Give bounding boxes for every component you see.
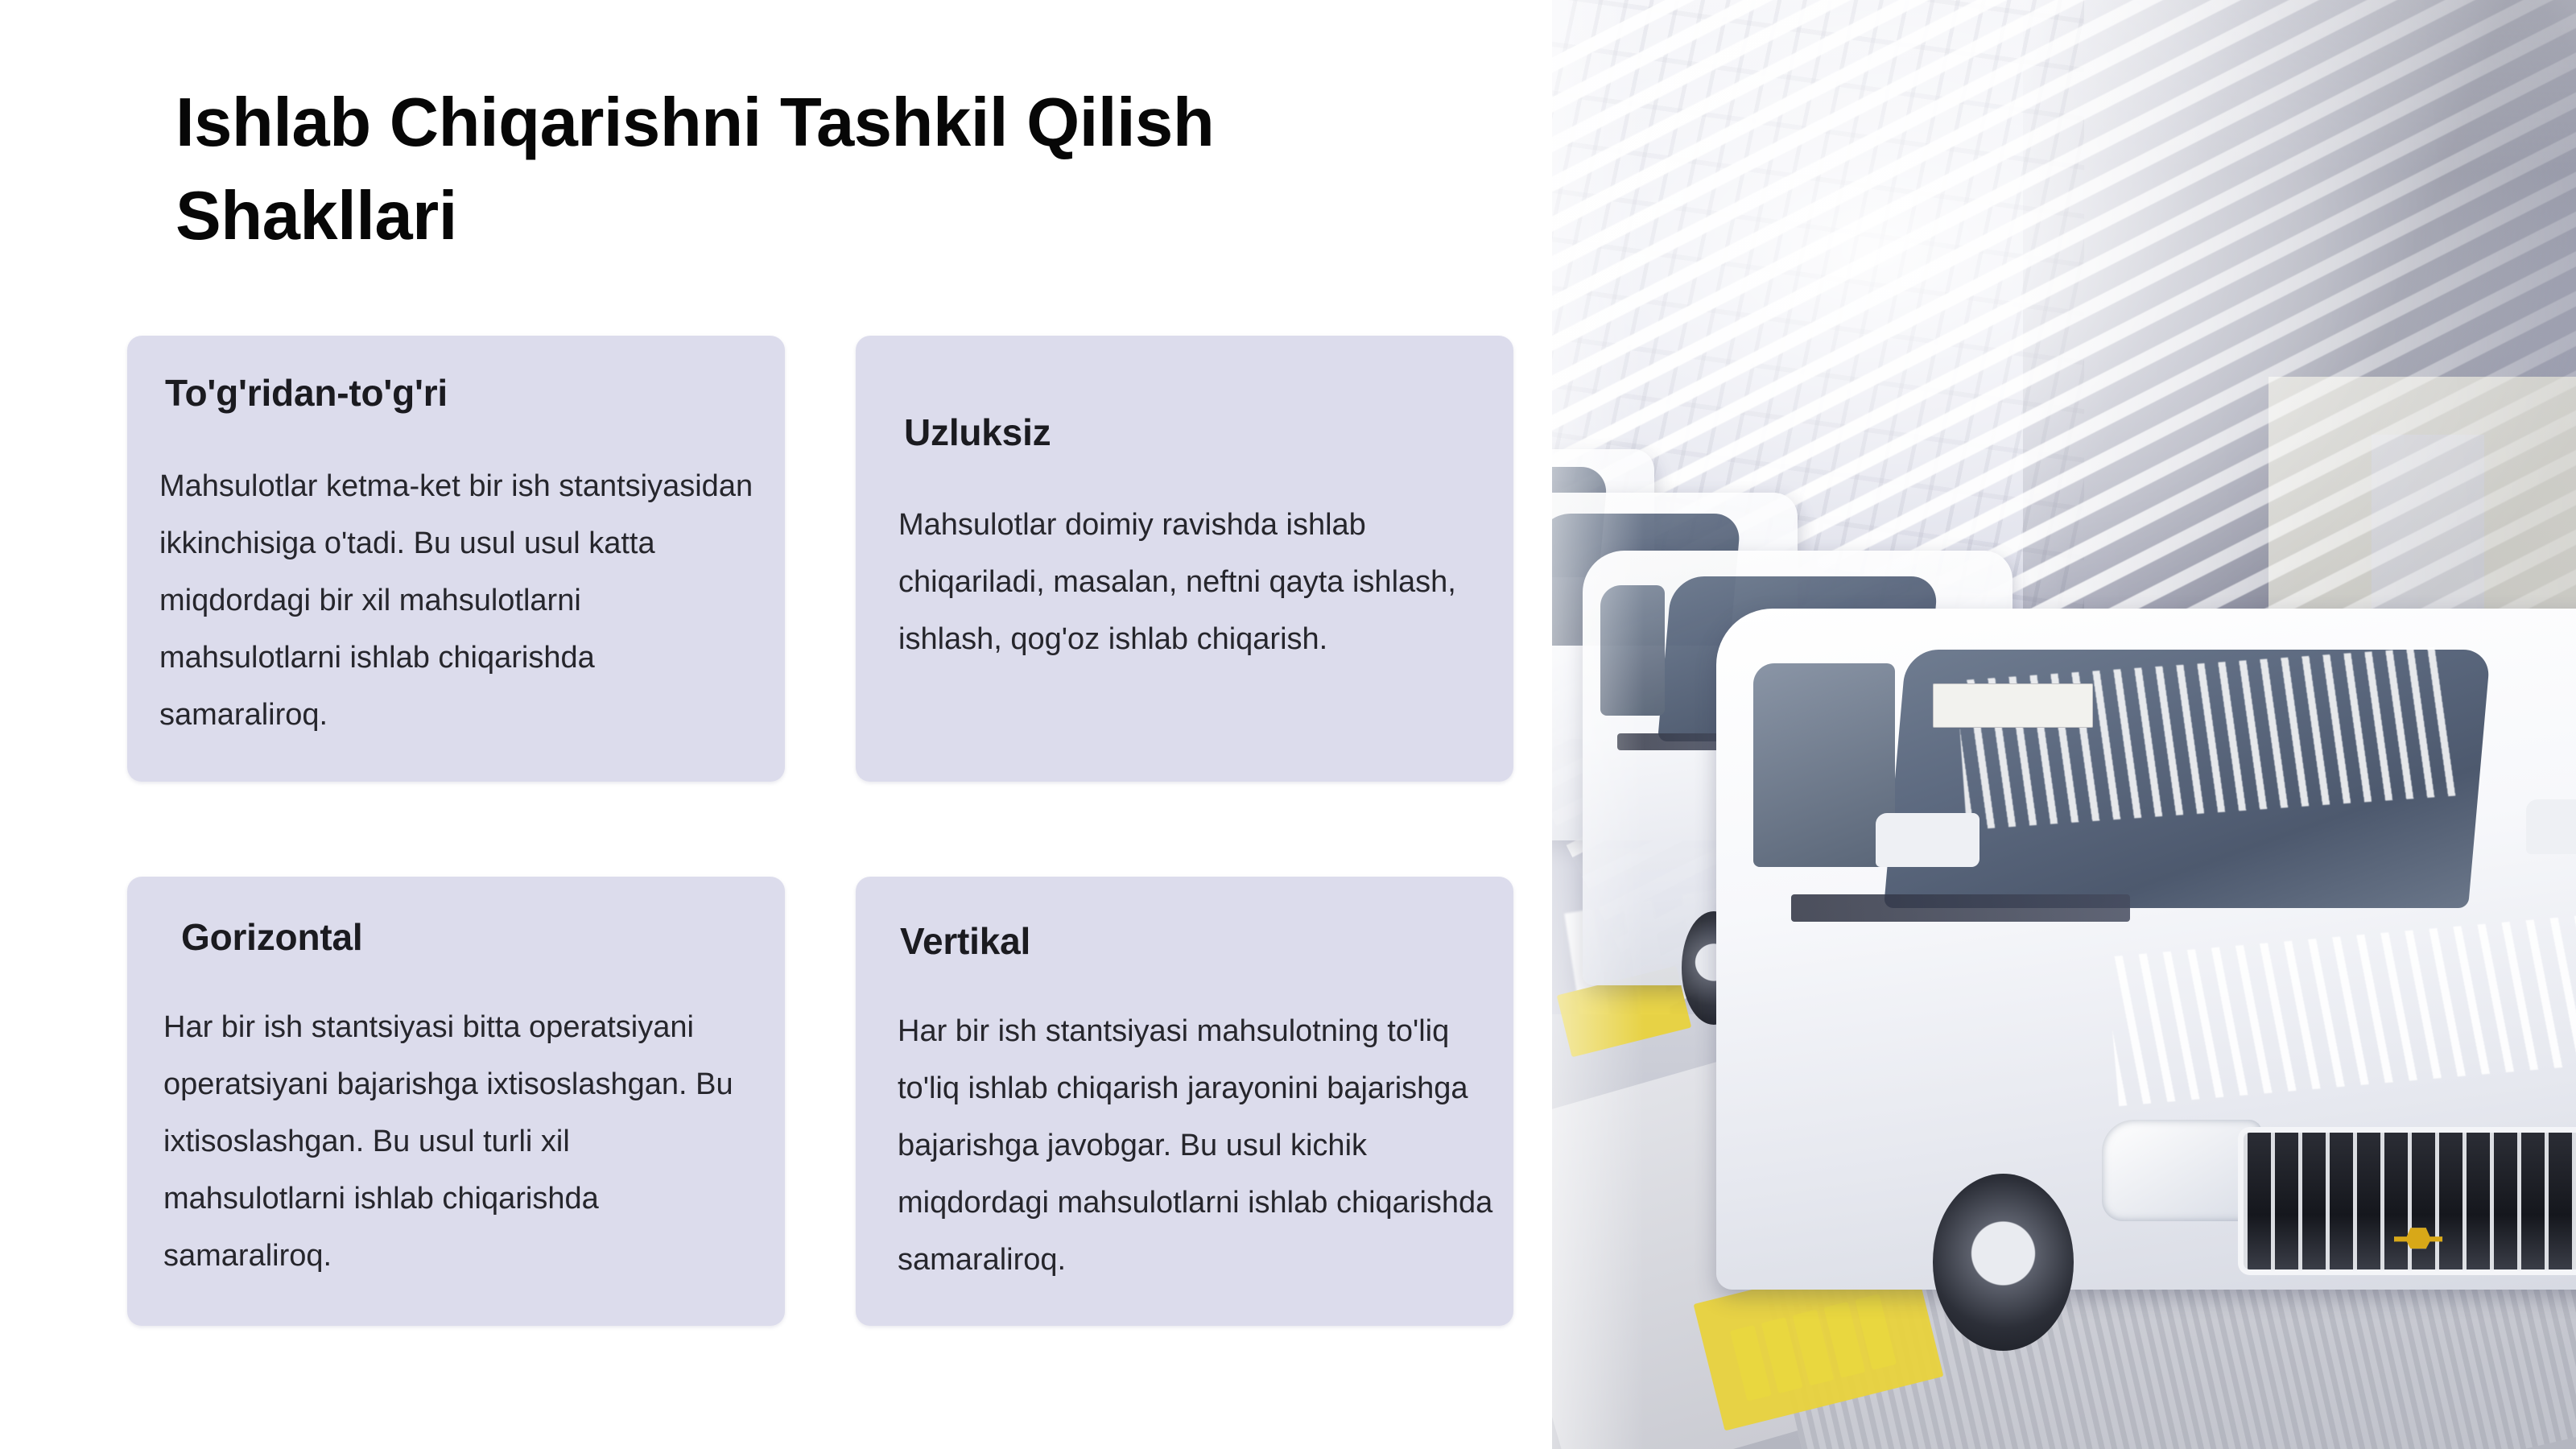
page-title: Ishlab Chiqarishni Tashkil Qilish Shakll… — [175, 76, 1343, 262]
side-window — [1600, 585, 1665, 716]
car-foreground — [1716, 609, 2576, 1290]
side-window — [1753, 663, 1895, 868]
card-body: Mahsulotlar ketma-ket bir ish stantsiyas… — [159, 458, 759, 744]
door-trim — [1791, 894, 2130, 922]
card-heading: To'g'ridan-to'g'ri — [165, 371, 448, 415]
content-panel: Ishlab Chiqarishni Tashkil Qilish Shakll… — [0, 0, 1552, 1449]
card-body: Mahsulotlar doimiy ravishda ishlab chiqa… — [898, 497, 1494, 668]
slide: Ishlab Chiqarishni Tashkil Qilish Shakll… — [0, 0, 2576, 1449]
card-togridan-togri[interactable]: To'g'ridan-to'g'ri Mahsulotlar ketma-ket… — [127, 336, 785, 782]
card-gorizontal[interactable]: Gorizontal Har bir ish stantsiyasi bitta… — [127, 877, 785, 1326]
side-mirror-left — [1876, 813, 1979, 868]
hood-reflection — [2106, 914, 2576, 1106]
front-grille — [2244, 1133, 2576, 1269]
card-uzluksiz[interactable]: Uzluksiz Mahsulotlar doimiy ravishda ish… — [856, 336, 1513, 782]
card-body: Har bir ish stantsiyasi bitta operatsiya… — [163, 999, 759, 1285]
card-heading: Gorizontal — [181, 915, 362, 959]
card-heading: Vertikal — [900, 919, 1030, 963]
photo-inner — [1552, 0, 2576, 1449]
front-wheel — [1933, 1174, 2074, 1351]
card-heading: Uzluksiz — [904, 411, 1051, 454]
side-mirror-right — [2526, 799, 2576, 854]
card-vertikal[interactable]: Vertikal Har bir ish stantsiyasi mahsulo… — [856, 877, 1513, 1326]
cards-grid: To'g'ridan-to'g'ri Mahsulotlar ketma-ket… — [127, 336, 1516, 1326]
factory-assembly-line-photo — [1552, 0, 2576, 1449]
windshield-label-card — [1933, 683, 2093, 728]
headlight — [2102, 1120, 2262, 1222]
card-body: Har bir ish stantsiyasi mahsulotning to'… — [898, 1003, 1509, 1289]
